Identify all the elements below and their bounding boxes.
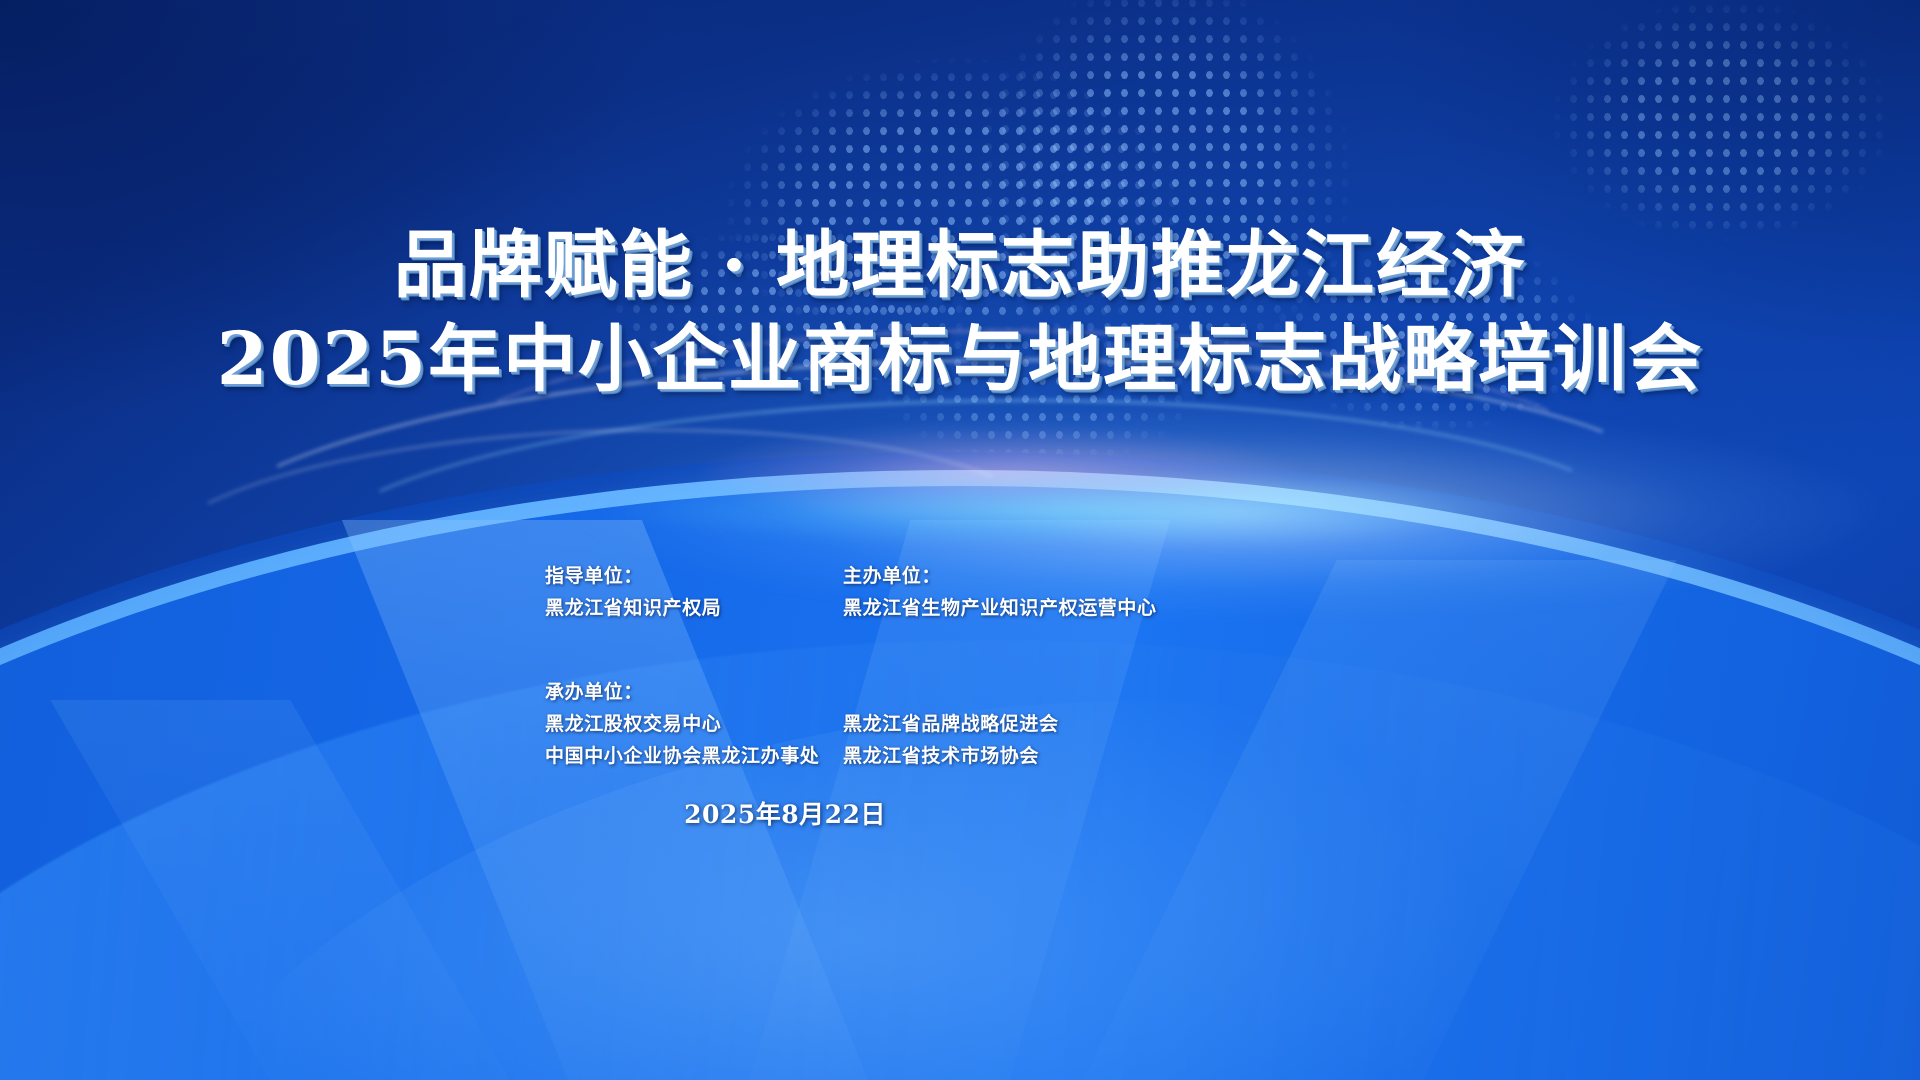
title-line-2: 2025年中小企业商标与地理标志战略培训会 bbox=[0, 316, 1920, 402]
title-line-1: 品牌赋能 · 地理标志助推龙江经济 bbox=[0, 222, 1920, 308]
organizer-unit-name-left-2: 中国中小企业协会黑龙江办事处 bbox=[545, 740, 843, 772]
poster-canvas: 品牌赋能 · 地理标志助推龙江经济 2025年中小企业商标与地理标志战略培训会 … bbox=[0, 0, 1920, 1080]
organizer-unit-name-right-1: 黑龙江省品牌战略促进会 bbox=[843, 708, 1305, 740]
organizer-label-spacer bbox=[843, 676, 1305, 708]
guidance-unit-name-1: 黑龙江省知识产权局 bbox=[545, 592, 843, 624]
guidance-unit-label: 指导单位： bbox=[545, 560, 843, 592]
light-ribbon-pink bbox=[560, 385, 1540, 565]
organizer-unit-label: 承办单位： bbox=[545, 676, 843, 708]
event-date: 2025年8月22日 bbox=[545, 795, 1025, 831]
organizer-unit-name-right-2: 黑龙江省技术市场协会 bbox=[843, 740, 1305, 772]
light-beam bbox=[50, 700, 509, 1080]
host-unit-name-1: 黑龙江省生物产业知识产权运营中心 bbox=[843, 592, 1305, 624]
host-unit-label: 主办单位： bbox=[843, 560, 1305, 592]
organizer-credits: 指导单位： 主办单位： 黑龙江省知识产权局 黑龙江省生物产业知识产权运营中心 承… bbox=[545, 560, 1305, 772]
poster-title: 品牌赋能 · 地理标志助推龙江经济 2025年中小企业商标与地理标志战略培训会 bbox=[0, 222, 1920, 402]
section-spacer bbox=[545, 624, 1305, 676]
organizer-unit-name-left-1: 黑龙江股权交易中心 bbox=[545, 708, 843, 740]
corner-vignette bbox=[0, 0, 1920, 1080]
light-ribbon-cyan bbox=[300, 440, 1700, 580]
